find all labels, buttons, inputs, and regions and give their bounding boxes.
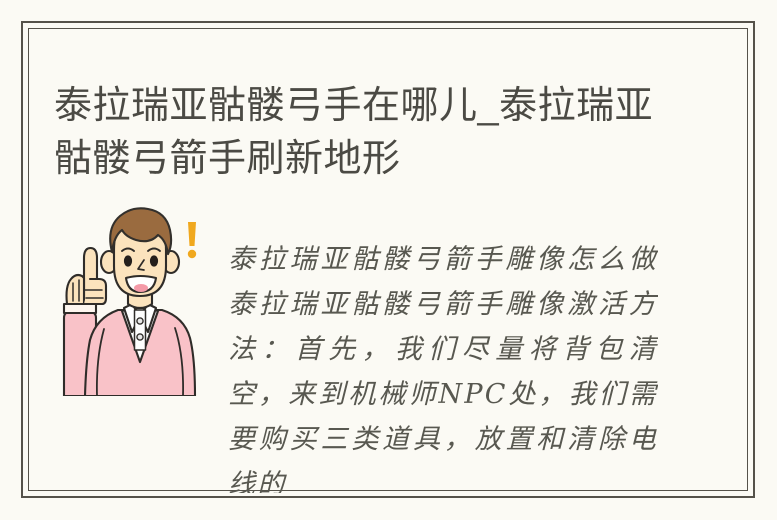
article-body-text: 泰拉瑞亚骷髅弓箭手雕像怎么做泰拉瑞亚骷髅弓箭手雕像激活方法：首先，我们尽量将背包…	[228, 237, 658, 493]
exclamation-glyph	[188, 222, 196, 258]
person-pointing-up-illustration	[62, 200, 218, 396]
article-content: 泰拉瑞亚骷髅弓箭手雕像怎么做泰拉瑞亚骷髅弓箭手雕像激活方法：首先，我们尽量将背包…	[54, 196, 714, 496]
article-card: 泰拉瑞亚骷髅弓手在哪儿_泰拉瑞亚骷髅弓箭手刷新地形	[0, 0, 777, 520]
page-title: 泰拉瑞亚骷髅弓手在哪儿_泰拉瑞亚骷髅弓箭手刷新地形	[54, 80, 674, 186]
